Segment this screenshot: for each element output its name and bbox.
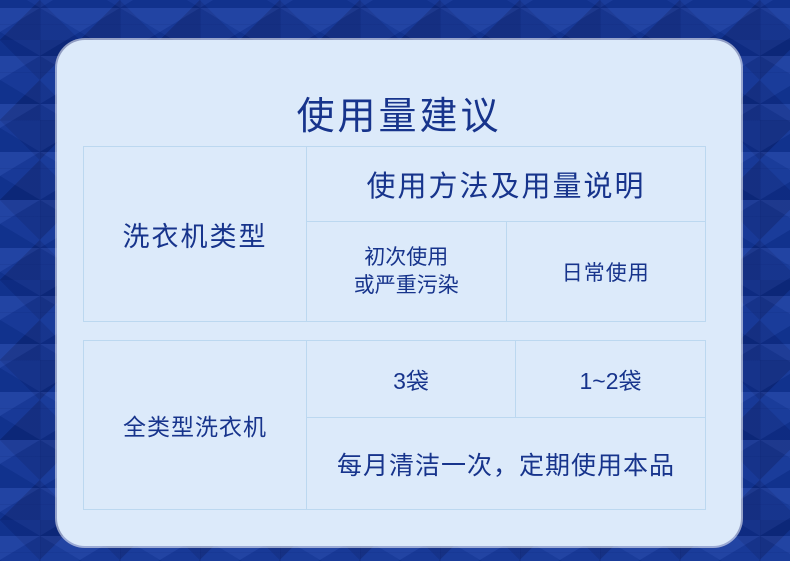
body-cell-daily-use-dose: 1~2袋 <box>516 341 706 418</box>
first-use-line-2: 或严重污染 <box>307 272 506 300</box>
table-row: 洗衣机类型 使用方法及用量说明 <box>84 147 706 222</box>
page-title: 使用量建议 <box>57 98 741 136</box>
header-cell-first-use: 初次使用 或严重污染 <box>307 222 507 322</box>
table-row: 全类型洗衣机 3袋 1~2袋 <box>84 341 706 418</box>
header-cell-method-title: 使用方法及用量说明 <box>307 147 706 222</box>
usage-body-table: 全类型洗衣机 3袋 1~2袋 每月清洁一次，定期使用本品 <box>83 340 706 510</box>
body-cell-usage-note: 每月清洁一次，定期使用本品 <box>307 418 706 510</box>
body-cell-first-use-dose: 3袋 <box>307 341 516 418</box>
first-use-line-1: 初次使用 <box>307 244 506 272</box>
header-cell-daily-use: 日常使用 <box>506 222 706 322</box>
header-cell-machine-type: 洗衣机类型 <box>84 147 307 322</box>
usage-header-table: 洗衣机类型 使用方法及用量说明 初次使用 或严重污染 日常使用 <box>83 146 706 322</box>
usage-guidance-card: 使用量建议 洗衣机类型 使用方法及用量说明 初次使用 或严重污染 日常使用 全类… <box>57 40 741 546</box>
body-cell-machine-type: 全类型洗衣机 <box>84 341 307 510</box>
